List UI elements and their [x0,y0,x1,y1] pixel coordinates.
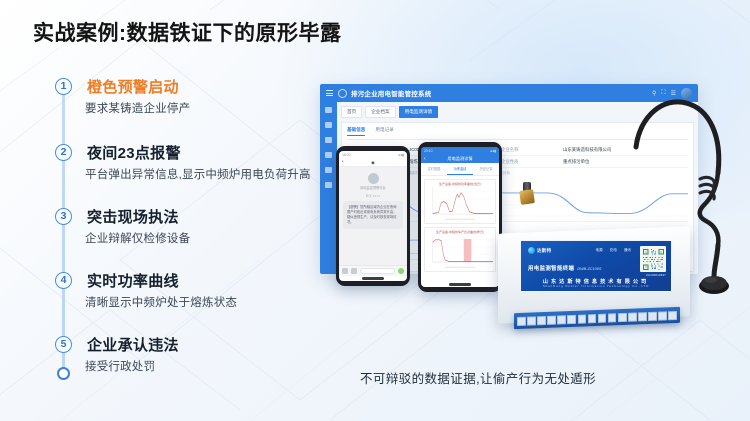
chat-navbar: ‹ ◉ [339,158,407,167]
terminal-port [648,311,657,320]
terminal-port [638,312,647,321]
step-title-4: 实时功率曲线 [85,269,181,292]
phone-chat-device: 18:20 ●●▮ ‹ ◉ 用电监控预警平台 昨天 23:07 【超警】您所辖区… [336,146,410,286]
subtab-basic-info[interactable]: 基础信息 [347,127,365,136]
step-desc-3: 企业辩解仅检修设备 [85,230,190,246]
browser-topbar: 排污企业用电智能管控系统 ⚲ ⛶ ☰ [320,84,698,102]
app-logo-icon [338,89,347,98]
device-label: 达斯特 电源 充电 通讯 用电监测智能终端 DWB-ZC100S [520,240,672,292]
step-title-5: 企业承认违法 [85,333,181,356]
terminal-port [527,316,536,325]
avatar[interactable] [681,88,692,99]
led-label-comm: 通讯 [624,248,631,253]
status-indicators-icon: ●●▮ [398,153,404,157]
terminal-port [628,312,637,321]
subtab-power-records[interactable]: 用电记录 [375,127,393,136]
status-bar: 18:20 ●●▮ [339,151,407,158]
home-indicator [449,283,471,286]
company-name-en: ShanDong Duster Information Technology C… [521,285,671,289]
step-number-4: 4 [55,272,72,289]
power-curve-yesterday [427,235,493,267]
phone-charts-screen: 23:10 ●●▮ ‹ 用电监测详情 实时数据 功率曲线 历史记录 生产设备-中… [421,147,499,287]
home-indicator [362,277,384,280]
device-model: 用电监测智能终端 DWB-ZC100S [528,264,601,272]
user-icon[interactable] [325,182,332,188]
chart-axis-labels: 00:00 06:00 12:00 18:00 24:00 [427,219,493,221]
phone-charts-device: 23:10 ●●▮ ‹ 用电监测详情 实时数据 功率曲线 历史记录 生产设备-中… [418,142,502,292]
tab-power-monitor-detail[interactable]: 用电监测详情 [399,106,439,118]
step-desc-4: 清晰显示中频炉处于熔炼状态 [85,294,237,310]
send-icon[interactable] [398,268,404,274]
led-label-power: 电源 [595,248,602,253]
power-curve-today [427,187,493,219]
timeline: 1 橙色预警启动 要求某铸造企业停产 2 夜间23点报警 平台弹出异常信息,显示… [55,78,355,378]
browser-tools: ⚲ ⛶ ☰ [652,88,692,99]
avatar: ◉ [371,160,375,165]
terminal-port [557,315,566,324]
tab-enterprise-archive[interactable]: 企业档案 [365,106,395,118]
status-indicators-icon: ●●▮ [490,149,496,153]
search-icon[interactable]: ⚲ [652,90,656,97]
chevron-left-icon[interactable]: ‹ [424,156,426,162]
phone-chat-screen: 18:20 ●●▮ ‹ ◉ 用电监控预警平台 昨天 23:07 【超警】您所辖区… [339,151,407,281]
step-title-2: 夜间23点报警 [85,141,183,164]
tab-power-curve[interactable]: 功率曲线 [447,163,473,175]
qr-code-icon [640,246,666,272]
chart-title: 生产设备-中频炉功率曲线(当日) [427,182,493,186]
timeline-line [62,84,65,372]
terminal-port [588,314,597,323]
emoji-icon[interactable] [351,268,357,274]
led-labels: 电源 充电 通讯 [595,248,631,253]
device-model-name: 用电监测智能终端 [528,264,574,272]
step-title-1: 橙色预警启动 [85,75,181,98]
charts-navbar: ‹ 用电监测详情 [421,154,499,163]
terminal-port [578,314,587,323]
terminal-port [618,312,627,321]
menu-icon[interactable] [326,90,333,96]
terminal-port [658,311,667,320]
monitor-icon[interactable] [325,122,332,128]
settings-icon[interactable] [325,167,332,173]
step-number-1: 1 [55,78,72,95]
tab-history[interactable]: 历史记录 [473,163,499,175]
brand-name: 达斯特 [537,248,551,254]
status-bar: 23:10 ●●▮ [421,147,499,154]
chat-body: 用电监控预警平台 昨天 23:07 【超警】您所辖区域内企业在夜间限产时段出现用… [339,167,407,271]
chart-icon[interactable] [325,152,332,158]
avatar [368,173,379,184]
terminal-port [598,313,607,322]
charts-tab-strip[interactable]: 实时数据 功率曲线 历史记录 [421,163,499,176]
chat-input-bar[interactable] [339,265,407,276]
device-brand: 达斯特 [528,247,551,254]
report-icon[interactable] [325,137,332,143]
step-number-5: 5 [55,336,72,353]
fullscreen-icon[interactable]: ⛶ [661,90,665,97]
sma-connector [519,189,535,205]
device-company: 山东达斯特信息技术有限公司 ShanDong Duster Informatio… [521,279,671,289]
nav-title: 用电监测详情 [447,156,472,162]
page-title: 实战案例:数据铁证下的原形毕露 [33,17,342,47]
terminal-port [547,315,556,324]
field-value: 山东某铸造科技有限公司 [563,147,655,153]
device-model-number: DWB-ZC100S [577,267,601,271]
field-label: 企业性质 [501,159,563,165]
camera-icon[interactable] [342,268,348,274]
timeline-end-dot [57,367,70,380]
step-number-3: 3 [55,208,72,225]
browser-sidebar[interactable] [320,102,337,274]
tab-home[interactable]: 首页 [341,106,362,118]
caption: 不可辩驳的数据证据,让偷产行为无处遁形 [360,368,596,387]
home-icon[interactable] [325,107,332,113]
monitoring-terminal-device: 达斯特 电源 充电 通讯 用电监测智能终端 DWB-ZC100S [498,222,708,337]
step-desc-5: 接受行政处罚 [85,358,155,374]
terminal-port [668,310,677,319]
field-value: 重点排污单位 [563,159,655,165]
chart-card-yesterday: 生产设备-中频炉停产比对曲线(昨日) 00:00 06:00 12:00 18:… [424,227,496,272]
browser-tab-strip[interactable]: 首页 企业档案 用电监测详情 [341,106,694,118]
chart-title: 生产设备-中频炉停产比对曲线(昨日) [427,230,493,234]
panel-subtabs[interactable]: 基础信息 用电记录 [347,127,688,140]
chart-card-today: 生产设备-中频炉功率曲线(当日) 00:00 06:00 12:00 18:00… [424,179,496,224]
step-desc-2: 平台弹出异常信息,显示中频炉用电负荷升高 [85,166,311,182]
device-serial: ZC200010637 [646,273,666,277]
terminal-port [517,316,526,325]
terminal-port [608,313,617,322]
status-time: 23:10 [424,149,433,153]
field-label: 企业名称 [501,147,563,153]
step-title-3: 突击现场执法 [85,205,181,228]
led-label-charge: 充电 [610,248,617,253]
contact-name: 用电监控预警平台 [343,185,403,190]
tab-realtime-data[interactable]: 实时数据 [421,163,447,175]
chevron-left-icon[interactable]: ‹ [342,159,344,165]
message-input[interactable] [360,268,395,274]
status-time: 18:20 [342,153,351,157]
terminal-port [537,315,546,324]
step-desc-1: 要求某铸造企业停产 [85,100,190,116]
chart-axis-labels: 00:00 06:00 12:00 18:00 24:00 [427,267,493,269]
message-time: 昨天 23:07 [343,194,403,198]
step-number-2: 2 [55,144,72,161]
brand-logo-icon [528,247,535,254]
app-title: 排污企业用电智能管控系统 [351,88,431,98]
message-bubble: 【超警】您所辖区域内企业在夜间限产时段出现用电负荷异常升高，疑似违规生产，请及时… [343,201,403,229]
signal-icon[interactable]: ☰ [671,90,676,97]
terminal-port [567,314,576,323]
